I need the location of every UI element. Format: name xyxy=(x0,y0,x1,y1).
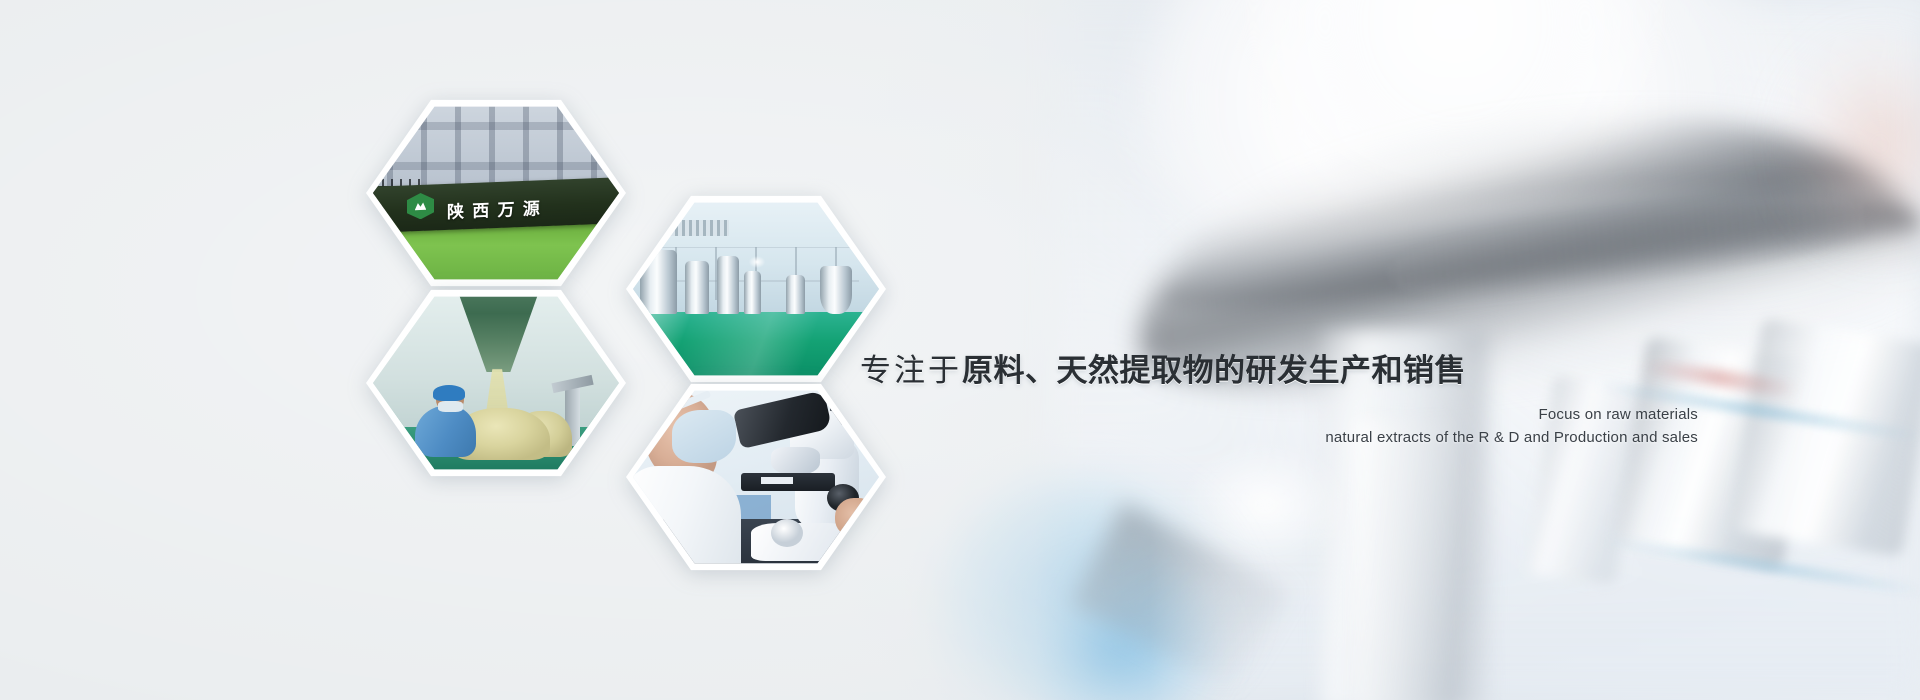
workshop-green-floor xyxy=(633,312,879,377)
workshop-lamp xyxy=(746,254,768,270)
hex-frame: 陕 西 万 源 xyxy=(366,98,626,288)
worker-coverall xyxy=(415,406,477,457)
hex-photo-microscope-lab[interactable] xyxy=(626,382,886,572)
worker-mask xyxy=(438,401,463,412)
photo-microscope-lab xyxy=(633,389,879,565)
hex-photo-extraction-workshop[interactable] xyxy=(626,194,886,384)
worker-cap xyxy=(433,385,465,400)
extraction-tank xyxy=(744,271,761,313)
factory-building xyxy=(373,105,619,186)
extraction-tank xyxy=(685,261,710,314)
banner-text-block: 专注于原料、天然提取物的研发生产和销售 Focus on raw materia… xyxy=(860,352,1720,446)
hexagon-photo-cluster: 陕 西 万 源 xyxy=(0,0,900,700)
factory-sign-text: 陕 西 万 源 xyxy=(447,190,595,224)
extraction-tank xyxy=(820,266,852,314)
headline-lead: 专注于 xyxy=(860,353,962,389)
technician-face-mask xyxy=(672,410,736,463)
technician-lab-coat xyxy=(633,466,741,565)
photo-powder-bagging xyxy=(373,295,619,471)
hex-frame xyxy=(366,288,626,478)
photo-extraction-workshop xyxy=(633,201,879,377)
microscope-slide xyxy=(761,477,793,484)
hex-photo-factory-gate[interactable]: 陕 西 万 源 xyxy=(366,98,626,288)
bagging-worker xyxy=(415,387,477,457)
technician-hand xyxy=(835,498,874,537)
banner-subtitle-line-2: natural extracts of the R & D and Produc… xyxy=(860,429,1720,446)
microscope-nosepiece xyxy=(771,447,820,475)
hero-banner: 陕 西 万 源 xyxy=(0,0,1920,700)
photo-factory-gate: 陕 西 万 源 xyxy=(373,105,619,281)
banner-headline: 专注于原料、天然提取物的研发生产和销售 xyxy=(860,352,1720,392)
hex-frame xyxy=(626,194,886,384)
hex-photo-powder-bagging[interactable] xyxy=(366,288,626,478)
workshop-gantry xyxy=(640,220,729,236)
microscope-light-knob xyxy=(771,519,803,547)
headline-emphasis: 原料、天然提取物的研发生产和销售 xyxy=(962,353,1466,389)
hex-frame xyxy=(626,382,886,572)
extraction-tank xyxy=(717,256,739,314)
extraction-tank xyxy=(640,250,677,313)
extraction-tank xyxy=(786,275,806,314)
banner-subtitle-line-1: Focus on raw materials xyxy=(860,406,1720,423)
